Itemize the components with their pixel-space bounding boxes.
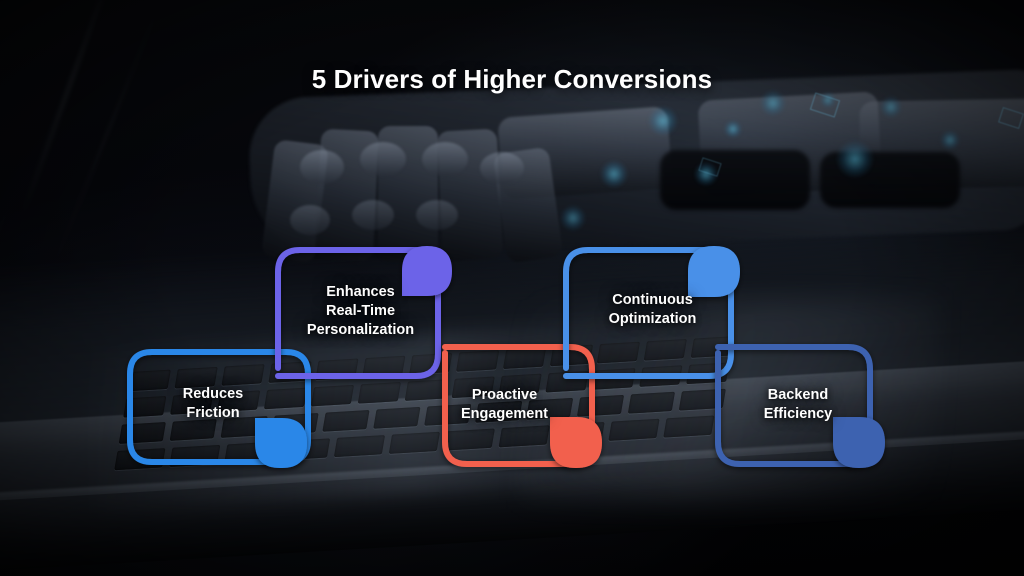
slide-canvas: 5 Drivers of Higher Conversions Reduces …: [0, 0, 1024, 576]
diagram-node-proactive-engagement[interactable]: [445, 347, 602, 468]
node-tab-enhances-real-time-personalization: [402, 246, 452, 296]
diagram-node-reduces-friction[interactable]: [130, 352, 308, 468]
diagram-node-backend-efficiency[interactable]: [718, 347, 885, 468]
node-tab-reduces-friction: [255, 418, 307, 468]
node-tab-proactive-engagement: [550, 417, 602, 468]
page-title: 5 Drivers of Higher Conversions: [0, 64, 1024, 95]
node-tab-continuous-optimization: [688, 246, 740, 297]
node-tab-backend-efficiency: [833, 417, 885, 468]
